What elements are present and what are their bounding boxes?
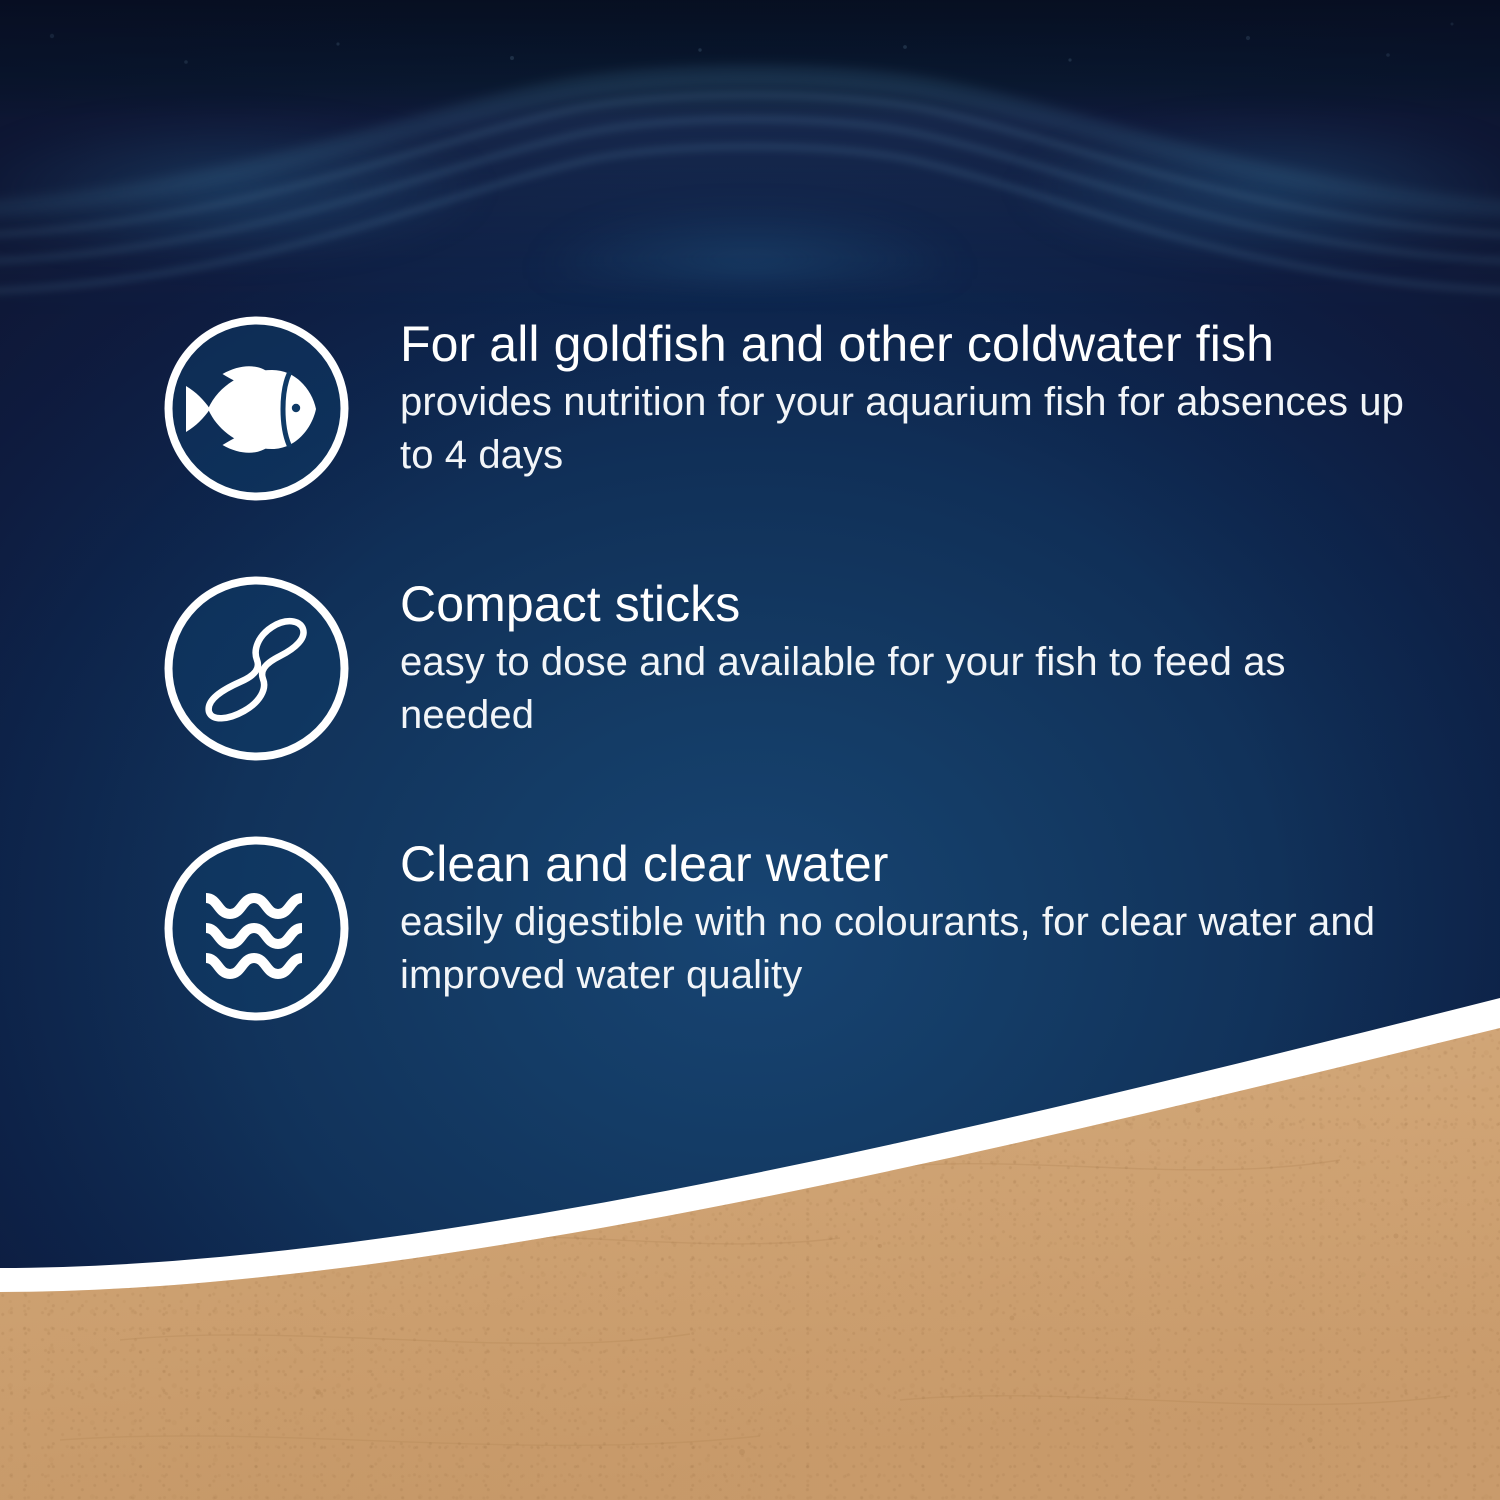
feature-description: easily digestible with no colourants, fo… xyxy=(400,896,1405,1002)
feature-description: provides nutrition for your aquarium fis… xyxy=(400,376,1405,482)
product-feature-panel: For all goldfish and other coldwater fis… xyxy=(0,0,1500,1500)
feature-list: For all goldfish and other coldwater fis… xyxy=(160,312,1420,1092)
water-waves-icon xyxy=(160,832,353,1025)
feature-description: easy to dose and available for your fish… xyxy=(400,636,1405,742)
feature-item-coldwater-fish: For all goldfish and other coldwater fis… xyxy=(160,312,1420,572)
feature-title: Clean and clear water xyxy=(400,834,1410,894)
feature-title: For all goldfish and other coldwater fis… xyxy=(400,314,1410,374)
fish-icon xyxy=(160,312,353,505)
feeding-stick-icon xyxy=(160,572,353,765)
feature-text-block: Compact sticks easy to dose and availabl… xyxy=(400,574,1410,742)
feature-item-clean-water: Clean and clear water easily digestible … xyxy=(160,832,1420,1092)
feature-item-compact-sticks: Compact sticks easy to dose and availabl… xyxy=(160,572,1420,832)
feature-text-block: Clean and clear water easily digestible … xyxy=(400,834,1410,1002)
feature-text-block: For all goldfish and other coldwater fis… xyxy=(400,314,1410,482)
feature-title: Compact sticks xyxy=(400,574,1410,634)
